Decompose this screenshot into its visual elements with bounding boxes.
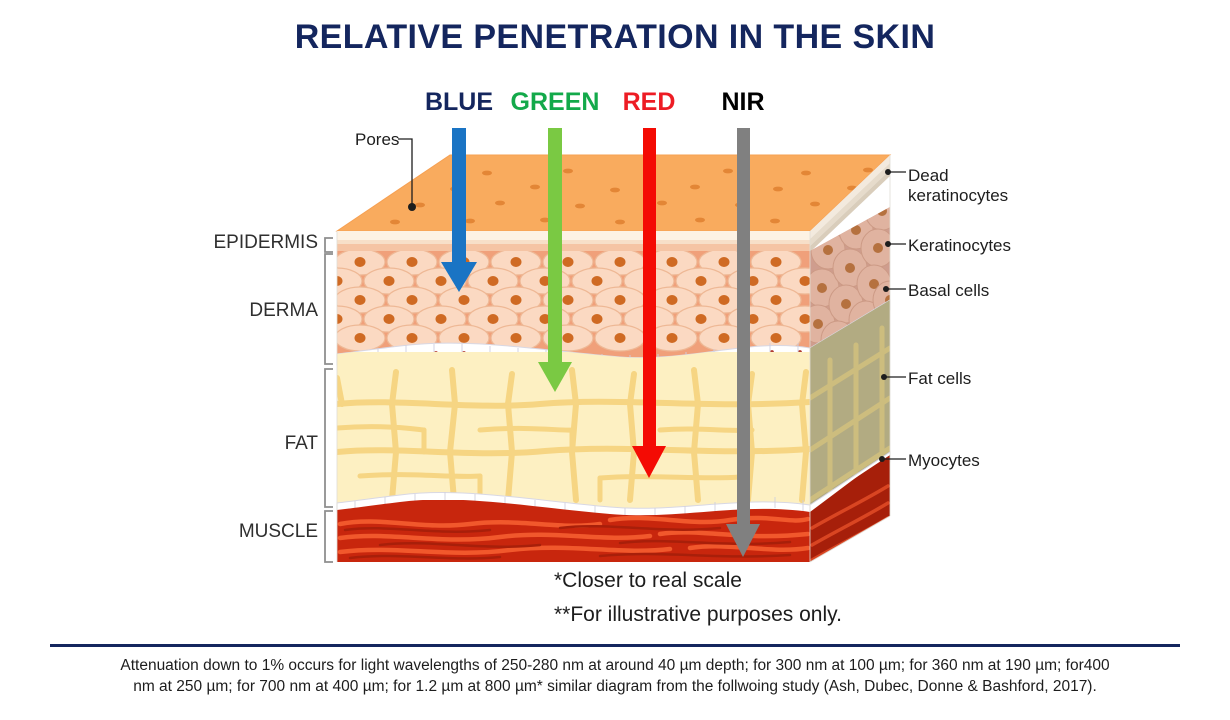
right-label-basal-cells: Basal cells	[908, 281, 989, 301]
footer-caption: Attenuation down to 1% occurs for light …	[30, 655, 1200, 697]
caption-line-1: Attenuation down to 1% occurs for light …	[30, 655, 1200, 676]
pores-leader-dot	[408, 203, 416, 211]
caption-line-2: nm at 250 µm; for 700 nm at 400 µm; for …	[30, 676, 1200, 697]
right-label-dead-keratinocytes: Dead keratinocytes	[908, 166, 1008, 206]
pores-label: Pores	[355, 130, 399, 150]
right-label-line1: Dead	[908, 166, 949, 185]
note-closer-to-real-scale: *Closer to real scale	[554, 569, 742, 593]
right-label-myocytes: Myocytes	[908, 451, 980, 471]
dermis-cells	[312, 249, 830, 351]
diagram-stage: RELATIVE PENETRATION IN THE SKIN	[0, 0, 1230, 720]
layer-label-muscle: MUSCLE	[100, 521, 318, 543]
right-label-keratinocytes: Keratinocytes	[908, 236, 1011, 256]
layer-brackets-left	[325, 238, 333, 562]
right-label-fat-cells: Fat cells	[908, 369, 971, 389]
footer-divider	[50, 644, 1180, 647]
layer-label-derma: DERMA	[100, 300, 318, 322]
layer-label-fat: FAT	[100, 433, 318, 455]
note-illustrative-purposes: **For illustrative purposes only.	[554, 603, 842, 627]
wavelength-label-nir: NIR	[683, 88, 803, 117]
right-label-line2: keratinocytes	[908, 186, 1008, 205]
layer-label-epidermis: EPIDERMIS	[100, 232, 318, 254]
epidermis-top-face	[337, 155, 890, 231]
